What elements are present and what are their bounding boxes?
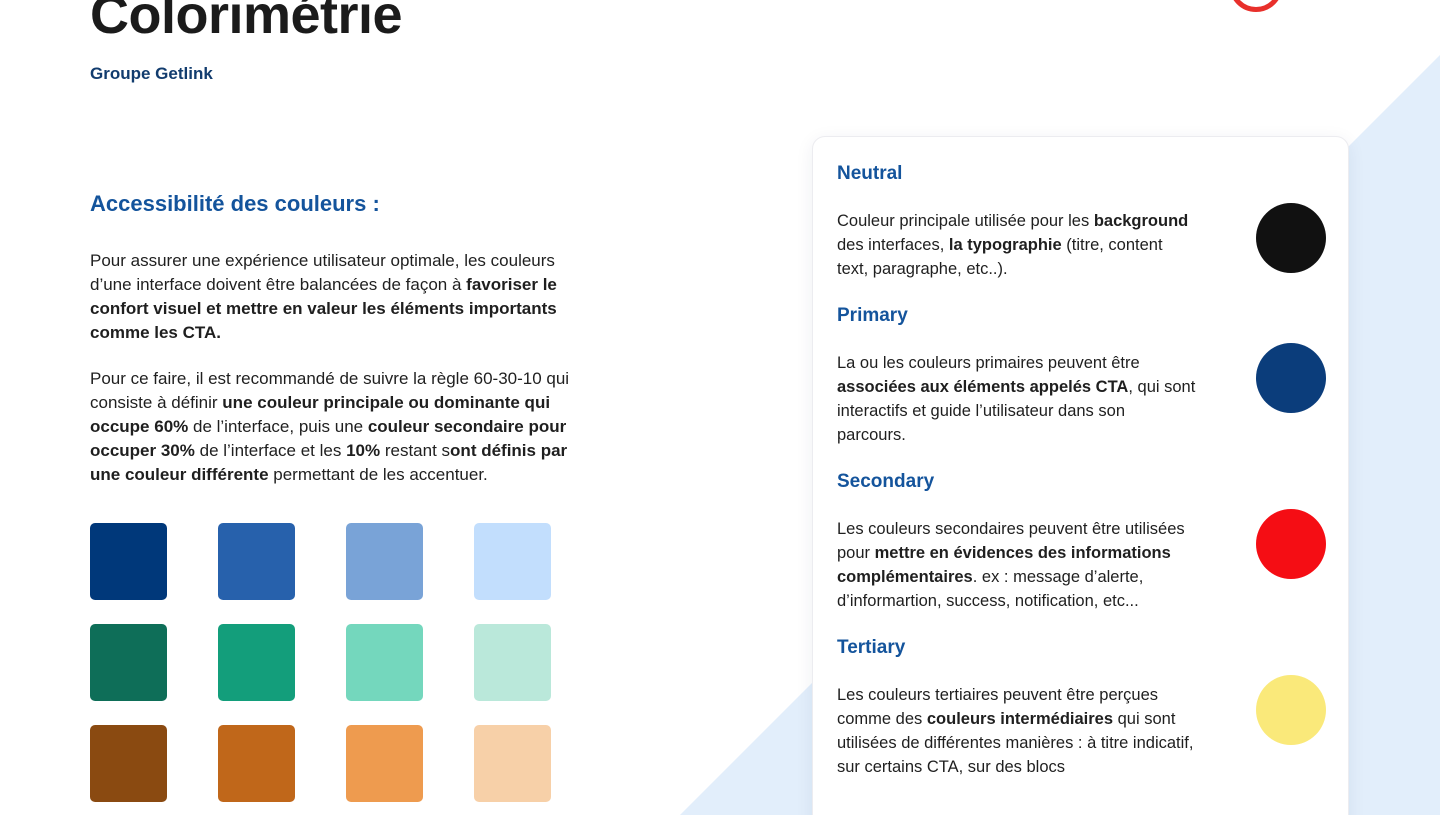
card-text-neutral-bold2: la typographie <box>949 236 1062 254</box>
card-text-secondary: Les couleurs secondaires peuvent être ut… <box>837 517 1196 613</box>
card-heading-secondary: Secondary <box>837 471 1196 493</box>
color-dot-primary <box>1256 343 1326 413</box>
card-text-neutral-bold1: background <box>1094 212 1188 230</box>
accessibility-paragraph-2: Pour ce faire, il est recommandé de suiv… <box>90 367 585 487</box>
color-swatch <box>90 523 167 600</box>
card-text-primary-bold1: associées aux éléments appelés CTA <box>837 378 1128 396</box>
card-section-neutral: NeutralCouleur principale utilisée pour … <box>837 163 1316 281</box>
card-text-tertiary-bold1: couleurs intermédiaires <box>927 710 1113 728</box>
color-swatch <box>346 523 423 600</box>
color-swatch <box>218 725 295 802</box>
color-dot-secondary <box>1256 509 1326 579</box>
left-content-column: Colorimétrie Groupe Getlink Accessibilit… <box>90 0 690 802</box>
color-swatch <box>474 624 551 701</box>
color-swatch <box>346 725 423 802</box>
par2-text-5: permettant de les accentuer. <box>269 465 488 484</box>
color-roles-card: NeutralCouleur principale utilisée pour … <box>812 136 1349 815</box>
color-swatch <box>90 624 167 701</box>
color-swatch <box>90 725 167 802</box>
card-text-neutral-part2: des interfaces, <box>837 236 949 254</box>
card-section-primary: PrimaryLa ou les couleurs primaires peuv… <box>837 305 1316 447</box>
color-swatch-grid <box>90 523 690 802</box>
card-section-secondary: SecondaryLes couleurs secondaires peuven… <box>837 471 1316 613</box>
color-swatch <box>218 624 295 701</box>
accessibility-paragraph-1: Pour assurer une expérience utilisateur … <box>90 249 585 345</box>
card-text-neutral-part1: Couleur principale utilisée pour les <box>837 212 1094 230</box>
color-swatch <box>474 523 551 600</box>
color-dot-neutral <box>1256 203 1326 273</box>
color-swatch <box>474 725 551 802</box>
card-text-tertiary: Les couleurs tertiaires peuvent être per… <box>837 683 1196 779</box>
section-heading-accessibility: Accessibilité des couleurs : <box>90 191 690 217</box>
color-swatch <box>346 624 423 701</box>
card-text-primary-part1: La ou les couleurs primaires peuvent êtr… <box>837 354 1140 372</box>
color-dot-tertiary <box>1256 675 1326 745</box>
card-text-primary: La ou les couleurs primaires peuvent êtr… <box>837 351 1196 447</box>
card-section-tertiary: TertiaryLes couleurs tertiaires peuvent … <box>837 637 1316 779</box>
par2-text-3: de l’interface et les <box>195 441 346 460</box>
card-heading-tertiary: Tertiary <box>837 637 1196 659</box>
red-ring-decoration <box>1229 0 1283 12</box>
card-heading-neutral: Neutral <box>837 163 1196 185</box>
page-title: Colorimétrie <box>90 0 690 42</box>
par2-bold-3: 10% <box>346 441 380 460</box>
color-swatch <box>218 523 295 600</box>
par2-text-2: de l’interface, puis une <box>188 417 368 436</box>
page-subtitle: Groupe Getlink <box>90 64 690 84</box>
par2-text-4: restant s <box>380 441 450 460</box>
card-text-neutral: Couleur principale utilisée pour les bac… <box>837 209 1196 281</box>
card-heading-primary: Primary <box>837 305 1196 327</box>
